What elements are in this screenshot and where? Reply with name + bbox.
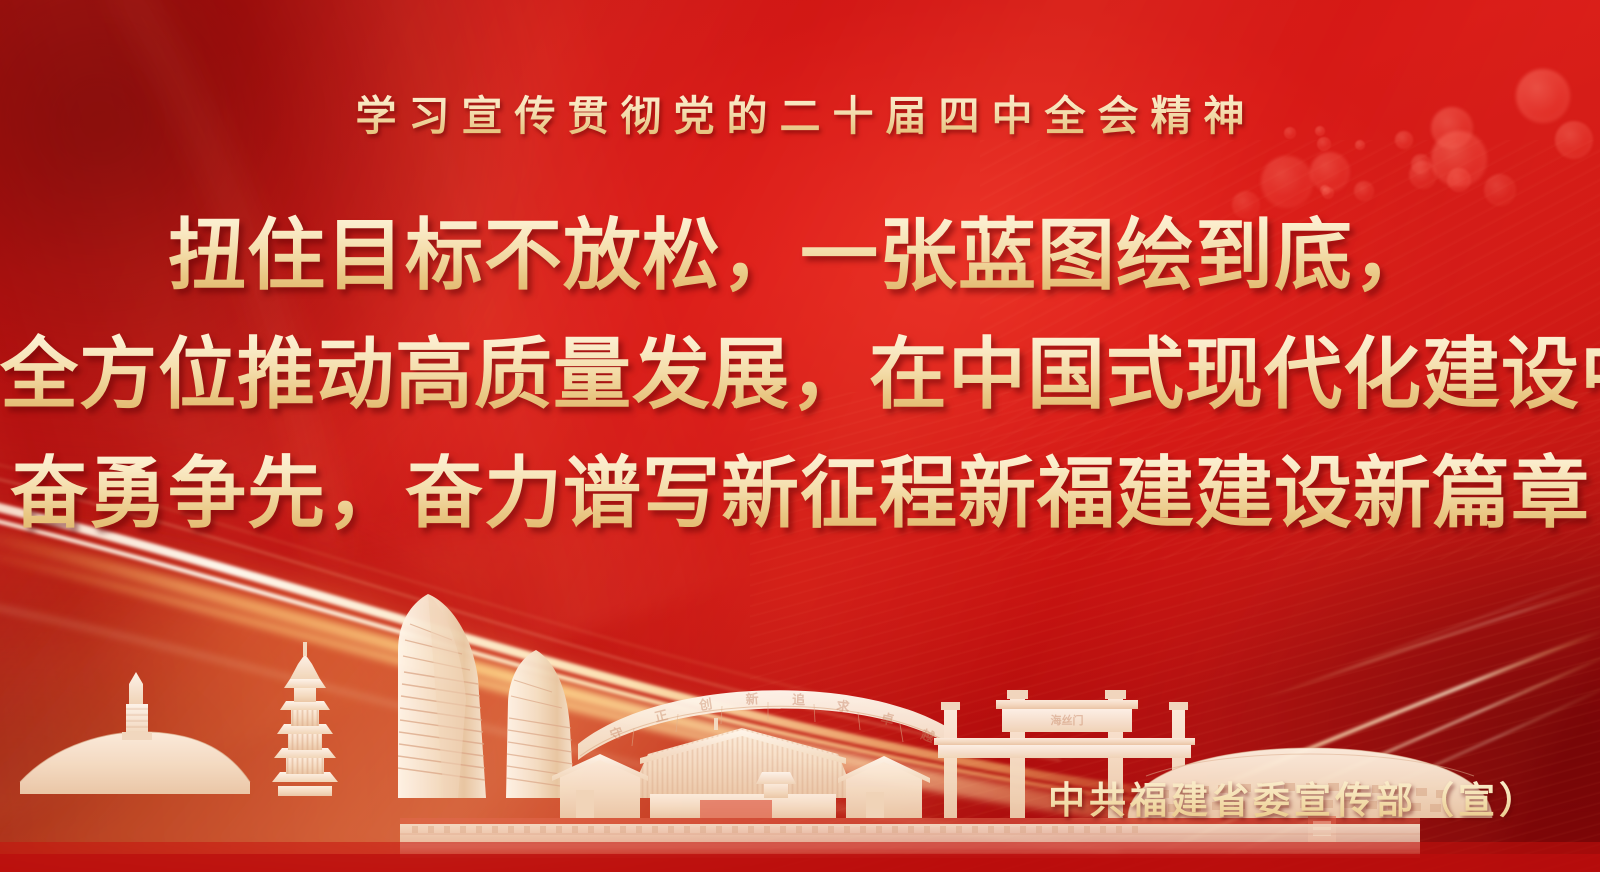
bokeh-circle xyxy=(1411,154,1431,174)
svg-text:正: 正 xyxy=(653,707,669,725)
svg-text:越: 越 xyxy=(918,726,937,745)
svg-text:守: 守 xyxy=(608,724,625,742)
svg-text:追: 追 xyxy=(792,692,807,707)
bokeh-circle xyxy=(1447,168,1471,192)
slogan-block: 扭住目标不放松，一张蓝图绘到底， 全方位推动高质量发展，在中国式现代化建设中 奋… xyxy=(0,196,1600,553)
poster-canvas: 守 正 创 新 追 求 卓 越 xyxy=(0,0,1600,872)
issuer-signature: 中共福建省委宣传部（宣） xyxy=(1048,770,1540,824)
slogan-line-2: 全方位推动高质量发展，在中国式现代化建设中 xyxy=(0,315,1600,434)
svg-text:求: 求 xyxy=(836,698,852,715)
slogan-line-1: 扭住目标不放松，一张蓝图绘到底， xyxy=(0,196,1600,315)
svg-text:卓: 卓 xyxy=(879,710,895,728)
svg-text:创: 创 xyxy=(697,696,713,713)
slogan-line-3: 奋勇争先，奋力谱写新征程新福建建设新篇章 xyxy=(0,434,1600,553)
bokeh-circle xyxy=(1310,152,1350,192)
svg-text:新: 新 xyxy=(745,691,759,707)
bokeh-circle xyxy=(1409,161,1437,189)
bokeh-circle xyxy=(1320,185,1330,195)
svg-text:海丝门: 海丝门 xyxy=(1051,713,1084,727)
page-headline: 学习宣传贯彻党的二十届四中全会精神 xyxy=(0,82,1600,142)
